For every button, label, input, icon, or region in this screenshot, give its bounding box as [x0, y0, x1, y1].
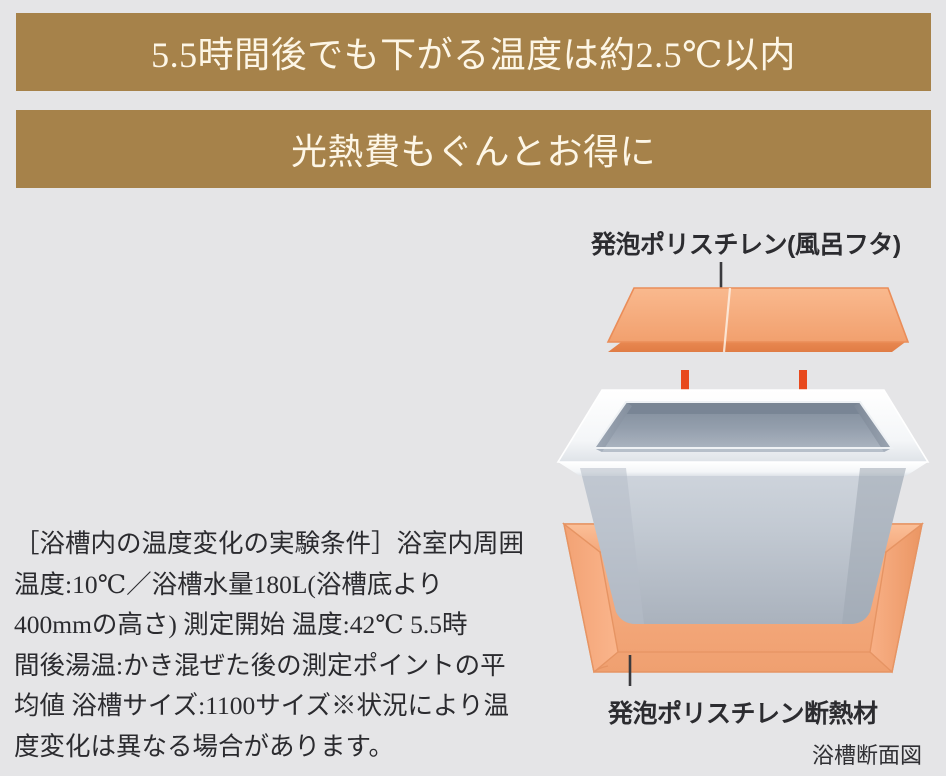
- diagram-label-foam-lid: 発泡ポリスチレン(風呂フタ): [591, 225, 901, 261]
- diagram-label-foam-insulation: 発泡ポリスチレン断熱材: [608, 694, 878, 730]
- headline-banner-primary: 5.5時間後でも下がる温度は約2.5℃以内: [16, 13, 931, 91]
- tub-inner-back-wall: [626, 402, 860, 414]
- page-root: 5.5時間後でも下がる温度は約2.5℃以内 光熱費もぐんとお得に ［浴槽内の温度…: [0, 0, 946, 776]
- headline-banner-secondary-text: 光熱費もぐんとお得に: [291, 123, 656, 175]
- note-line: 度変化は異なる場合があります。: [14, 727, 540, 768]
- note-line: 400mmの高さ) 測定開始 温度:42℃ 5.5時: [14, 605, 540, 646]
- note-line: 温度:10℃／浴槽水量180L(浴槽底より: [14, 565, 540, 606]
- note-line: ［浴槽内の温度変化の実験条件］浴室内周囲: [14, 524, 540, 565]
- note-line: 間後湯温:かき混ぜた後の測定ポイントの平: [14, 646, 540, 687]
- lid-top-face: [608, 288, 908, 342]
- headline-banner-primary-text: 5.5時間後でも下がる温度は約2.5℃以内: [151, 26, 796, 78]
- headline-banner-secondary: 光熱費もぐんとお得に: [16, 110, 931, 188]
- diagram-caption-cross-section: 浴槽断面図: [812, 738, 922, 770]
- bathtub-group: [558, 390, 928, 624]
- bathtub-cross-section-illustration: [540, 200, 946, 776]
- foam-lid-group: [608, 288, 908, 352]
- note-line: 均値 浴槽サイズ:1100サイズ※状況により温: [14, 686, 540, 727]
- experiment-conditions-note: ［浴槽内の温度変化の実験条件］浴室内周囲 温度:10℃／浴槽水量180L(浴槽底…: [14, 524, 540, 767]
